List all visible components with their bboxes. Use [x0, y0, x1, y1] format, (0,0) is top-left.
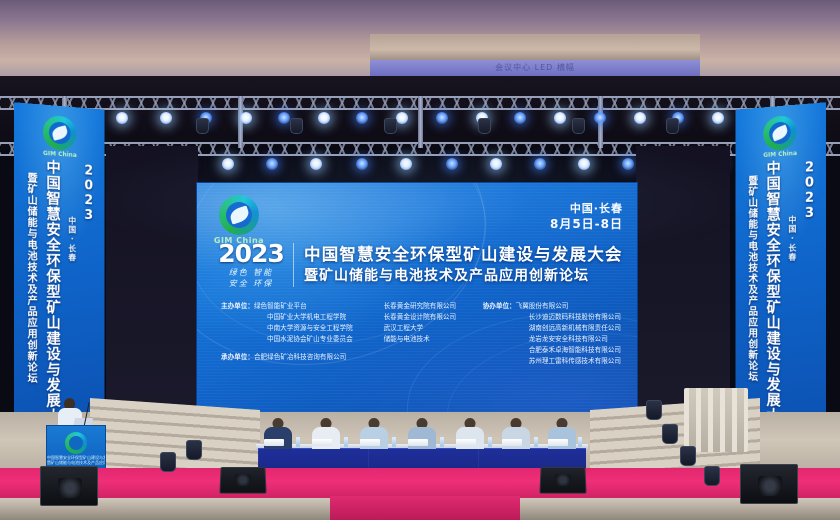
- host-item: 储能与电池技术: [384, 334, 483, 345]
- coorganizer-item: 苏州理工雷科传感技术有限公司: [483, 356, 621, 367]
- banner-logo-left: GIM China: [43, 115, 77, 159]
- host-item: 中国矿业大学机电工程学院: [221, 312, 384, 323]
- coorganizer-item: 龙岩龙安安全科技有限公司: [483, 334, 621, 345]
- coorganizer-item: 飞翼股份有限公司: [516, 302, 569, 310]
- floor-moving-light: [646, 400, 662, 420]
- water-bottle: [534, 437, 538, 447]
- water-bottle: [578, 437, 582, 447]
- podium-line-2: 暨矿山储能与电池技术及产品应用创新论坛: [47, 460, 105, 465]
- nameplate-row: [256, 432, 588, 448]
- undertaker-row: 承办单位：合肥绿色矿冶科技咨询有限公司: [221, 351, 346, 361]
- host-item: 绿色智能矿业平台: [254, 302, 307, 310]
- event-titles: 中国智慧安全环保型矿山建设与发展大会 暨矿山储能与电池技术及产品应用创新论坛: [304, 244, 623, 286]
- water-bottle: [392, 437, 396, 447]
- floor-moving-light: [704, 466, 720, 486]
- stage-photo-scene: 会议中心 LED 横幅: [0, 0, 840, 520]
- water-bottle: [440, 437, 444, 447]
- main-led-screen: GIM China 中国·长春 8月5日-8日 2023 绿色 智能 安全 环保…: [196, 182, 638, 422]
- banner-logo-right: GIM China: [763, 115, 797, 159]
- event-location: 中国·长春: [550, 201, 623, 216]
- undertaker-label: 承办单位：: [221, 353, 254, 361]
- floor-moving-light: [662, 424, 678, 444]
- balustrade-right: [684, 388, 748, 452]
- gim-swoosh-logo-icon: [763, 115, 796, 151]
- host-item: 中国水泥协会矿山专业委员会: [221, 334, 384, 345]
- subwoofer-speaker: [740, 464, 798, 504]
- stage-monitor-speaker: [219, 467, 266, 494]
- host-label: 主办单位：: [221, 302, 254, 310]
- host-column-2: 长春黄金研究院有限公司 长春黄金设计院有限公司 武汉工程大学 储能与电池技术: [384, 301, 483, 367]
- gim-swoosh-logo-icon: [43, 115, 76, 151]
- host-item: 中南大学资源与安全工程学院: [221, 323, 384, 334]
- moving-head-light: [478, 118, 491, 134]
- stage-monitor-speaker: [539, 467, 586, 494]
- carpet-runner: [330, 496, 520, 520]
- gim-logo-text: GIM China: [43, 150, 77, 159]
- event-year: 2023: [215, 241, 287, 267]
- undertaker-name: 合肥绿色矿冶科技咨询有限公司: [254, 353, 346, 361]
- gim-swoosh-logo-icon: [219, 195, 259, 235]
- screen-title-row: 2023 绿色 智能 安全 环保 中国智慧安全环保型矿山建设与发展大会 暨矿山储…: [215, 241, 623, 289]
- name-card: [264, 439, 284, 446]
- floor-moving-light: [680, 446, 696, 466]
- host-item: 武汉工程大学: [384, 323, 483, 334]
- event-dates: 8月5日-8日: [550, 216, 623, 232]
- moving-head-light: [384, 118, 397, 134]
- coorganizer-item: 湖南创远高新机械有限责任公司: [483, 323, 621, 334]
- coorganizer-label: 协办单位：: [483, 302, 516, 310]
- slogan-line-2: 安全 环保: [215, 278, 287, 289]
- screen-logo: GIM China: [211, 195, 267, 245]
- coorganizer-item: 长沙迪迈数码科技股份有限公司: [483, 312, 621, 323]
- name-card: [360, 439, 380, 446]
- gim-swoosh-logo-icon: [65, 432, 87, 454]
- event-location-date: 中国·长春 8月5日-8日: [550, 201, 623, 232]
- name-card: [548, 439, 568, 446]
- event-title-main: 中国智慧安全环保型矿山建设与发展大会: [304, 244, 623, 266]
- gim-logo-text: GIM China: [763, 150, 797, 159]
- stage-right-dark-area: [636, 146, 730, 426]
- water-bottle: [344, 437, 348, 447]
- moving-head-light: [196, 118, 209, 134]
- coorganizer-item: 合肥泰禾卓海智能科技有限公司: [483, 345, 621, 356]
- moving-head-light: [290, 118, 303, 134]
- wall-ledge: [370, 34, 700, 60]
- name-card: [312, 439, 332, 446]
- moving-head-light: [572, 118, 585, 134]
- event-title-sub: 暨矿山储能与电池技术及产品应用创新论坛: [304, 266, 623, 286]
- name-card: [502, 439, 522, 446]
- host-item: 长春黄金研究院有限公司: [384, 301, 483, 312]
- subwoofer-speaker: [40, 466, 98, 506]
- floor-moving-light: [186, 440, 202, 460]
- water-bottle: [296, 437, 300, 447]
- title-divider: [293, 243, 294, 287]
- overhead-led-text: 会议中心 LED 横幅: [370, 60, 700, 76]
- name-card: [408, 439, 428, 446]
- year-and-slogan: 2023 绿色 智能 安全 环保: [215, 241, 287, 289]
- lamp-row-upper: [0, 112, 840, 134]
- overhead-led-banner: 会议中心 LED 横幅: [370, 60, 700, 76]
- floor-moving-light: [160, 452, 176, 472]
- moving-head-light: [666, 118, 679, 134]
- slogan-line-1: 绿色 智能: [215, 267, 287, 278]
- coorganizer-column: 协办单位：飞翼股份有限公司 长沙迪迈数码科技股份有限公司 湖南创远高新机械有限责…: [483, 301, 621, 367]
- water-bottle: [488, 437, 492, 447]
- name-card: [456, 439, 476, 446]
- host-item: 长春黄金设计院有限公司: [384, 312, 483, 323]
